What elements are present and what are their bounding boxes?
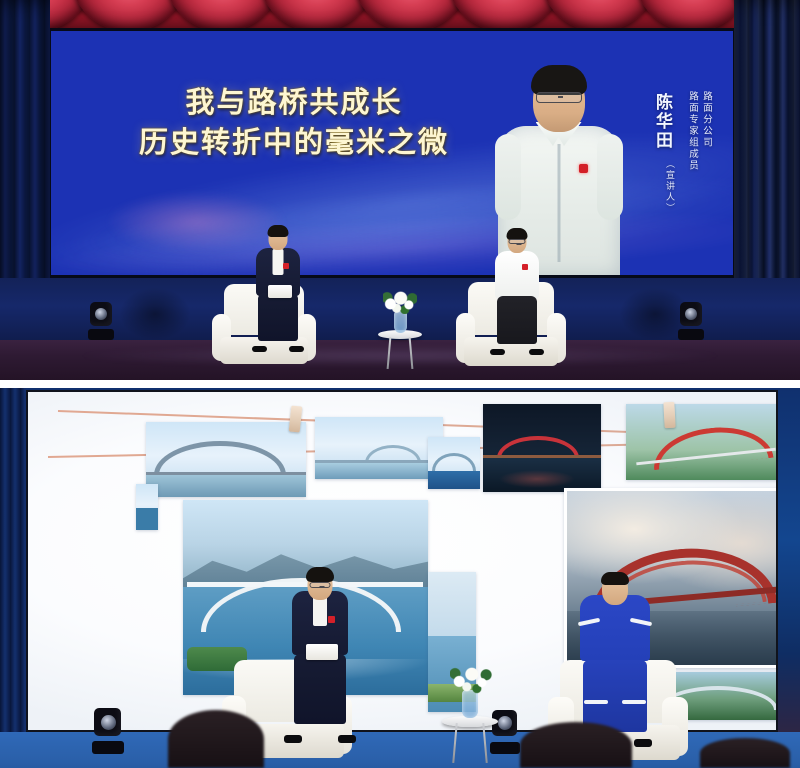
worker-shoe-right bbox=[634, 739, 652, 747]
portrait-shirt-placket bbox=[557, 144, 560, 262]
slide-title-line-2: 历史转折中的毫米之微 bbox=[129, 123, 459, 163]
led-screen: 我与路桥共成长 历史转折中的毫米之微 陈华田 （宣讲人） bbox=[48, 28, 736, 278]
reflective-stripe bbox=[584, 700, 608, 704]
guest-shoe-right bbox=[529, 349, 544, 355]
host-notes-card bbox=[268, 285, 292, 298]
bridge-photo-card bbox=[146, 422, 306, 497]
side-table-top bbox=[378, 330, 422, 362]
party-badge-icon bbox=[579, 164, 588, 173]
host-hair bbox=[268, 225, 289, 237]
audience-silhouette bbox=[700, 738, 790, 768]
bridge-photo-card bbox=[315, 417, 443, 479]
slide-title-line-1: 我与路桥共成长 bbox=[129, 83, 459, 123]
slide-speaker-name: 陈华田 bbox=[650, 93, 675, 150]
venue-scene-bottom bbox=[0, 388, 800, 768]
moving-head-light bbox=[88, 300, 114, 340]
host-shoe-right bbox=[289, 346, 304, 352]
bridge-photo-card bbox=[136, 484, 158, 530]
person-host-top bbox=[250, 227, 306, 347]
flower-vase bbox=[462, 690, 478, 718]
side-table-bottom bbox=[442, 716, 498, 756]
host-shoe-left bbox=[252, 346, 267, 352]
stage-photo-top: 我与路桥共成长 历史转折中的毫米之微 陈华田 （宣讲人） bbox=[0, 0, 800, 380]
host-shoe-right bbox=[338, 735, 356, 743]
slide-org-line-2: 路面专家组成员 bbox=[685, 91, 699, 172]
audience-silhouette bbox=[520, 722, 632, 768]
glasses-icon bbox=[536, 92, 582, 103]
worker-uniform-trousers bbox=[583, 660, 647, 732]
portrait-arm-left bbox=[495, 134, 521, 220]
host-shirt bbox=[273, 249, 284, 275]
slide-speaker-role: （宣讲人） bbox=[664, 159, 677, 214]
host-trousers bbox=[258, 293, 298, 341]
party-badge-icon bbox=[283, 263, 289, 269]
person-worker-bottom bbox=[572, 574, 658, 742]
worker-hair bbox=[601, 572, 629, 585]
bridge-photo-card bbox=[626, 404, 778, 480]
flower-bouquet bbox=[383, 290, 417, 314]
light-shadow bbox=[620, 288, 690, 340]
person-host-bottom bbox=[284, 570, 356, 738]
party-badge-icon bbox=[522, 264, 528, 270]
glasses-icon bbox=[310, 582, 331, 588]
guest-shirt bbox=[495, 251, 539, 299]
host-hair bbox=[306, 567, 334, 582]
portrait-hair bbox=[531, 65, 587, 95]
slide-title: 我与路桥共成长 历史转折中的毫米之微 bbox=[129, 83, 459, 163]
stage-photo-bottom bbox=[0, 388, 800, 768]
stage-curtain-left bbox=[0, 388, 26, 768]
host-notes-card bbox=[306, 644, 338, 660]
venue-scene-top: 我与路桥共成长 历史转折中的毫米之微 陈华田 （宣讲人） bbox=[0, 0, 800, 380]
page-root: 我与路桥共成长 历史转折中的毫米之微 陈华田 （宣讲人） bbox=[0, 0, 800, 768]
clothes-pin-icon bbox=[663, 402, 675, 429]
moving-head-light bbox=[92, 706, 124, 754]
flower-vase bbox=[394, 311, 407, 333]
guest-trousers bbox=[497, 296, 537, 344]
reflective-stripe bbox=[622, 700, 646, 704]
party-badge-icon bbox=[328, 616, 335, 623]
portrait-arm-right bbox=[597, 134, 623, 220]
host-trousers bbox=[294, 654, 346, 724]
glasses-icon bbox=[509, 239, 526, 244]
bridge-photo-card bbox=[483, 404, 601, 492]
guest-shoe-left bbox=[490, 349, 505, 355]
audience-silhouette bbox=[168, 710, 264, 768]
photo-separator bbox=[0, 380, 800, 388]
flower-bouquet bbox=[450, 664, 492, 694]
bridge-photo-card bbox=[428, 437, 480, 489]
light-shadow bbox=[120, 288, 190, 340]
host-shoe-left bbox=[284, 735, 302, 743]
person-guest-top bbox=[488, 230, 546, 350]
slide-org-line-1: 路面分公司 bbox=[699, 91, 713, 149]
